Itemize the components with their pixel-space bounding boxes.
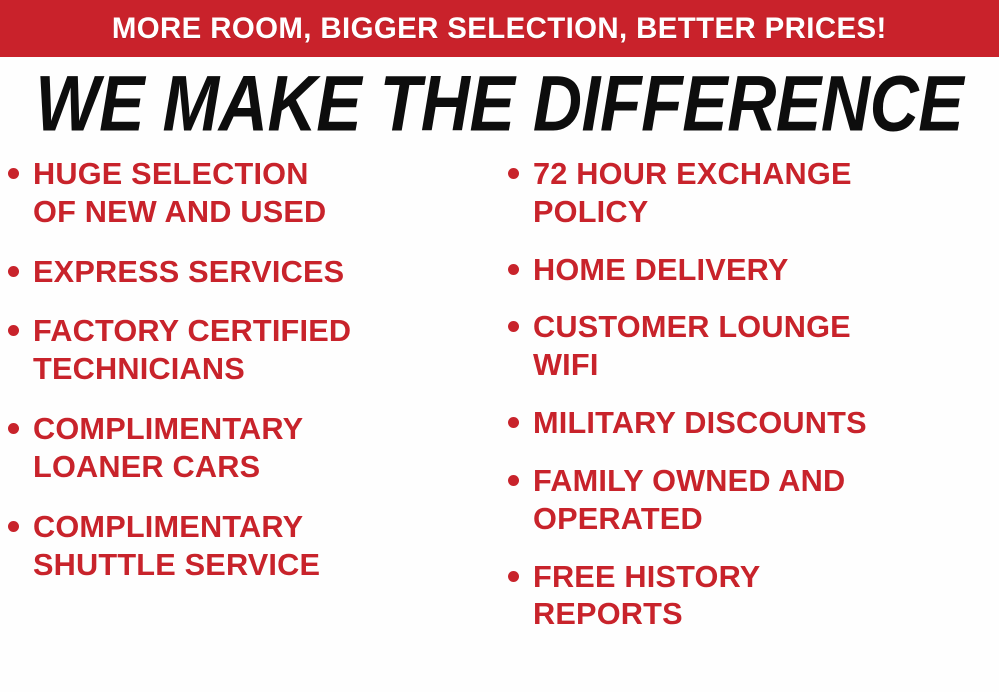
list-item: EXPRESS SERVICES — [8, 253, 508, 291]
list-item-label: CUSTOMER LOUNGE WIFI — [533, 308, 851, 384]
list-item: FREE HISTORY REPORTS — [508, 558, 999, 634]
list-item-label: COMPLIMENTARY LOANER CARS — [33, 410, 303, 486]
bullet-dot-icon — [8, 521, 19, 532]
list-item: 72 HOUR EXCHANGE POLICY — [508, 155, 999, 231]
bullet-dot-icon — [508, 264, 519, 275]
list-item-label: FREE HISTORY REPORTS — [533, 558, 760, 634]
benefits-columns: HUGE SELECTION OF NEW AND USED EXPRESS S… — [0, 155, 999, 692]
page-title: WE MAKE THE DIFFERENCE — [36, 65, 964, 143]
list-item-label: HUGE SELECTION OF NEW AND USED — [33, 155, 326, 231]
bullet-dot-icon — [508, 571, 519, 582]
headline-container: WE MAKE THE DIFFERENCE — [0, 60, 999, 148]
list-item: HOME DELIVERY — [508, 251, 999, 289]
list-item-label: MILITARY DISCOUNTS — [533, 404, 867, 442]
benefits-column-right: 72 HOUR EXCHANGE POLICY HOME DELIVERY CU… — [508, 155, 999, 653]
list-item: HUGE SELECTION OF NEW AND USED — [8, 155, 508, 231]
bullet-dot-icon — [8, 325, 19, 336]
bullet-dot-icon — [508, 321, 519, 332]
bullet-dot-icon — [8, 423, 19, 434]
banner-headline-text: MORE ROOM, BIGGER SELECTION, BETTER PRIC… — [112, 14, 887, 44]
bullet-dot-icon — [508, 417, 519, 428]
list-item: FACTORY CERTIFIED TECHNICIANS — [8, 312, 508, 388]
list-item-label: FAMILY OWNED AND OPERATED — [533, 462, 845, 538]
bullet-dot-icon — [8, 266, 19, 277]
bullet-dot-icon — [8, 168, 19, 179]
list-item-label: FACTORY CERTIFIED TECHNICIANS — [33, 312, 351, 388]
list-item: CUSTOMER LOUNGE WIFI — [508, 308, 999, 384]
bullet-dot-icon — [508, 475, 519, 486]
list-item: MILITARY DISCOUNTS — [508, 404, 999, 442]
list-item: COMPLIMENTARY LOANER CARS — [8, 410, 508, 486]
list-item-label: 72 HOUR EXCHANGE POLICY — [533, 155, 852, 231]
list-item-label: EXPRESS SERVICES — [33, 253, 344, 291]
list-item: COMPLIMENTARY SHUTTLE SERVICE — [8, 508, 508, 584]
top-banner: MORE ROOM, BIGGER SELECTION, BETTER PRIC… — [0, 0, 999, 57]
list-item-label: COMPLIMENTARY SHUTTLE SERVICE — [33, 508, 320, 584]
benefits-column-left: HUGE SELECTION OF NEW AND USED EXPRESS S… — [8, 155, 508, 605]
list-item: FAMILY OWNED AND OPERATED — [508, 462, 999, 538]
promotional-poster: MORE ROOM, BIGGER SELECTION, BETTER PRIC… — [0, 0, 999, 692]
bullet-dot-icon — [508, 168, 519, 179]
list-item-label: HOME DELIVERY — [533, 251, 789, 289]
